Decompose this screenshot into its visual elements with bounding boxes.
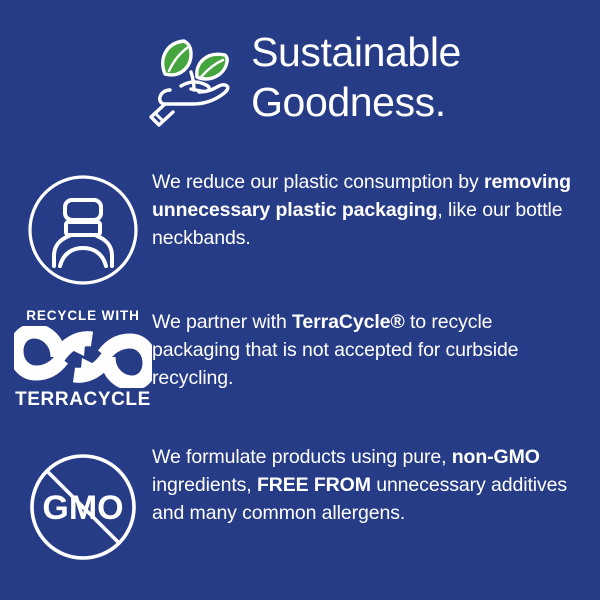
page-title-line-1: Sustainable [251,27,461,77]
feature-text-terracycle: We partner with TerraCycle® to recycle p… [152,308,600,392]
feature-row-gmo: GMO We formulate products using pure, no… [0,443,600,563]
text-part-bold: FREE FROM [257,474,371,496]
terracycle-logo-bottom-label: TERRACYCLE [15,389,151,410]
bottle-in-circle-icon [0,168,152,286]
infinity-recycle-icon: ® [14,326,152,388]
feature-text-gmo: We formulate products using pure, non-GM… [152,443,600,527]
sustainable-goodness-poster: Sustainable Goodness. We reduce our plas… [0,0,600,600]
terracycle-logo-top-label: RECYCLE WITH [26,308,140,323]
hand-holding-sprout-icon [139,24,245,130]
svg-text:®: ® [145,375,152,385]
no-gmo-icon: GMO [0,443,152,563]
text-part-bold: non-GMO [452,446,540,468]
feature-row-terracycle: RECYCLE WITH ® T [0,308,600,410]
page-title-line-2: Goodness. [251,77,461,127]
terracycle-logo: RECYCLE WITH ® T [0,308,152,410]
feature-text-plastic: We reduce our plastic consumption by rem… [152,168,600,252]
feature-row-plastic: We reduce our plastic consumption by rem… [0,168,600,286]
text-part: ingredients, [152,474,257,496]
text-part-bold: TerraCycle® [292,311,405,333]
text-part: We formulate products using pure, [152,446,452,468]
text-part: We partner with [152,311,292,333]
gmo-label: GMO [42,489,123,527]
text-part: We reduce our plastic consumption by [152,171,484,193]
page-title: Sustainable Goodness. [251,27,461,127]
poster-header: Sustainable Goodness. [0,24,600,130]
